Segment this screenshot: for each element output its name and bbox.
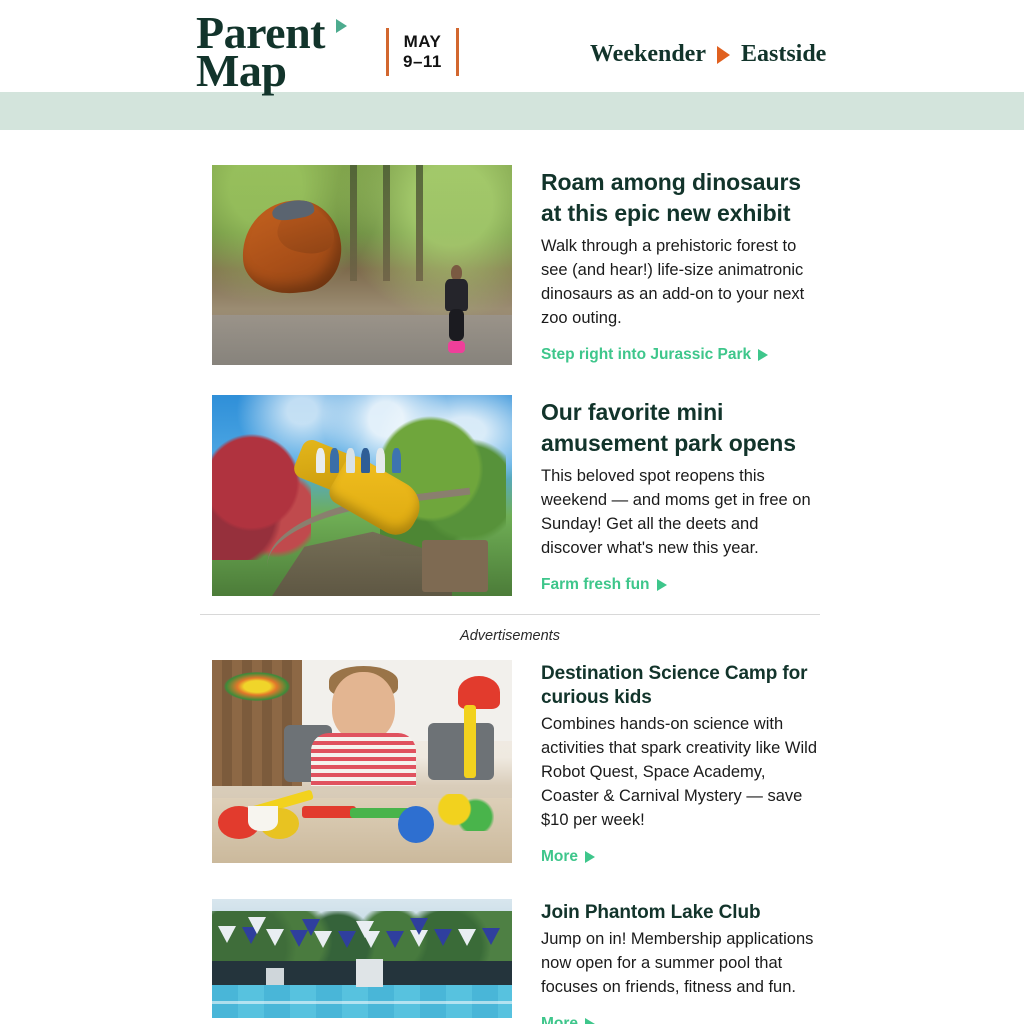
pennant [386,931,404,948]
rider [330,448,339,474]
parentmap-logo[interactable]: Parent Map [196,14,366,90]
toy-yellow-rod [464,705,476,778]
header-inner: Parent Map MAY 9–11 Weekender Eastside [196,0,856,92]
story-body: Join Phantom Lake Club Jump on in! Membe… [541,899,820,1024]
rider [376,448,385,474]
date-rule-right [456,28,459,76]
story-dek: Combines hands-on science with activitie… [541,712,820,832]
story-cta-label: Step right into Jurassic Park [541,346,751,364]
pennant [482,928,500,945]
science-camp-photo[interactable] [212,660,512,863]
pennant [410,918,428,935]
diving-platform [356,959,383,988]
pennant [248,917,266,934]
chair-right [428,723,494,780]
story-cta-link[interactable]: More [541,1015,595,1024]
story-body: Destination Science Camp for curious kid… [541,660,820,866]
story-cta-link[interactable]: More [541,848,595,866]
tree-trunk [383,165,390,281]
date-rule-left [386,28,389,76]
pennant [356,921,374,938]
story-dek: Walk through a prehistoric forest to see… [541,234,820,330]
amusement-park-coaster-photo[interactable] [212,395,512,596]
cta-triangle-right-icon [758,349,768,361]
story-title: Our favorite mini amusement park opens [541,397,820,459]
child-figure [443,265,470,353]
story-item: Roam among dinosaurs at this epic new ex… [0,165,1024,365]
kicker-triangle-right-icon [717,46,730,64]
kicker-weekender-label: Weekender [590,41,706,68]
child-legs [449,309,464,341]
phantom-lake-pool-photo[interactable] [212,899,512,1018]
rider [346,448,355,474]
coaster-photo-art [212,395,512,596]
issue-month: MAY [404,32,442,52]
pennant [338,931,356,948]
tree-trunk [416,165,423,281]
boy-head [332,672,395,741]
advertisements-label: Advertisements [0,615,1020,660]
toy-red-piece [458,676,500,708]
lane-line [212,1001,512,1004]
story-item: Our favorite mini amusement park opens T… [0,395,1024,596]
story-dek: Jump on in! Membership applications now … [541,927,820,999]
issue-date-text: MAY 9–11 [403,28,442,76]
cta-triangle-right-icon [585,851,595,863]
pennant [434,929,452,946]
story-cta-label: More [541,1015,578,1024]
issue-date-block: MAY 9–11 [386,28,459,76]
boy-striped-shirt [311,733,416,786]
story-title: Join Phantom Lake Club [541,901,820,925]
wooden-shed [422,540,488,592]
issue-day-range: 9–11 [403,52,442,72]
toy-cluster [428,794,494,831]
pennant-flags [212,916,512,947]
rider [316,448,325,474]
story-dek: This beloved spot reopens this weekend —… [541,464,820,560]
science-camp-photo-art [212,660,512,863]
pennant [218,926,236,943]
story-body: Our favorite mini amusement park opens T… [541,395,820,596]
story-cta-link[interactable]: Step right into Jurassic Park [541,346,768,364]
story-cta-label: Farm fresh fun [541,576,650,594]
cta-triangle-right-icon [657,579,667,591]
story-title: Destination Science Camp for curious kid… [541,662,820,710]
rider [392,448,401,474]
story-cta-link[interactable]: Farm fresh fun [541,576,667,594]
teal-divider-band [0,92,1024,130]
child-pink-boots [448,341,465,353]
cta-triangle-right-icon [585,1018,595,1024]
dinosaur-exhibit-photo[interactable] [212,165,512,365]
lifeguard-chair [266,968,284,985]
dinosaur-photo-art [212,165,512,365]
toy-red-barrel [302,806,356,818]
rider [361,448,370,474]
story-item: Destination Science Camp for curious kid… [0,660,1024,866]
tree-trunk [350,165,357,281]
child-jacket [445,279,468,311]
pennant [458,929,476,946]
pool-photo-art [212,899,512,1018]
story-title: Roam among dinosaurs at this epic new ex… [541,167,820,229]
kicker-region-label: Eastside [741,41,826,68]
pennant [302,919,320,936]
email-header: Parent Map MAY 9–11 Weekender Eastside [0,0,1024,92]
pennant [266,929,284,946]
logo-line-map: Map [196,52,366,90]
newsletter-kicker: Weekender Eastside [590,41,826,68]
logo-triangle-right-icon [336,19,347,33]
white-cup [248,806,278,830]
story-item: Join Phantom Lake Club Jump on in! Membe… [0,899,1024,1024]
coaster-riders [314,429,416,473]
story-cta-label: More [541,848,578,866]
newsletter-body: Roam among dinosaurs at this epic new ex… [0,165,1024,1024]
story-body: Roam among dinosaurs at this epic new ex… [541,165,820,365]
camp-logo-badge [224,672,290,700]
